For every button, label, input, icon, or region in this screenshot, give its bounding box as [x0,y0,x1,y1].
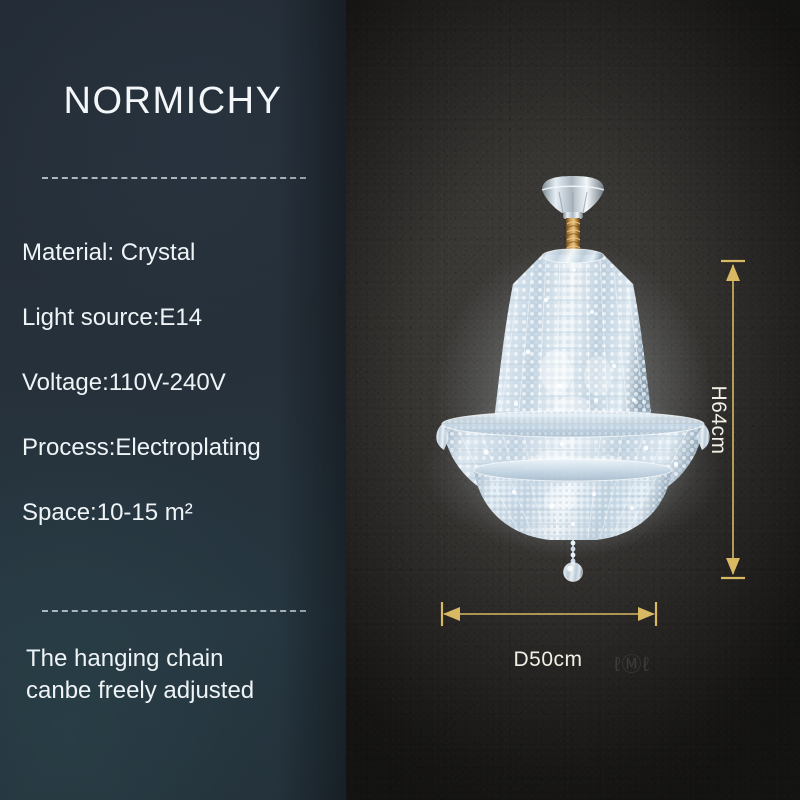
dimension-width [442,602,656,626]
spec-item-space: Space:10-15 m² [22,501,342,525]
footnote-line-2: canbe freely adjusted [26,675,336,707]
product-spec-card: NORMICHY Material: Crystal Light source:… [0,0,800,800]
spec-item-voltage: Voltage:110V-240V [22,371,342,395]
spec-item-process: Process:Electroplating [22,436,342,460]
footnote: The hanging chain canbe freely adjusted [26,643,336,707]
spec-item-light-source: Light source:E14 [22,306,342,330]
product-photo-panel: H64cm D50cm ℓⓂℓ [346,0,800,800]
footnote-line-1: The hanging chain [26,643,336,675]
divider-top [42,177,306,179]
spec-list: Material: Crystal Light source:E14 Volta… [22,241,342,566]
watermark: ℓⓂℓ [614,648,650,677]
info-panel: NORMICHY Material: Crystal Light source:… [0,0,346,800]
dimension-annotations [346,0,800,800]
spec-item-material: Material: Crystal [22,241,342,265]
divider-bottom [42,610,306,612]
dimension-width-label: D50cm [513,648,582,672]
dimension-height-label: H64cm [706,385,730,454]
brand-title: NORMICHY [0,80,346,123]
